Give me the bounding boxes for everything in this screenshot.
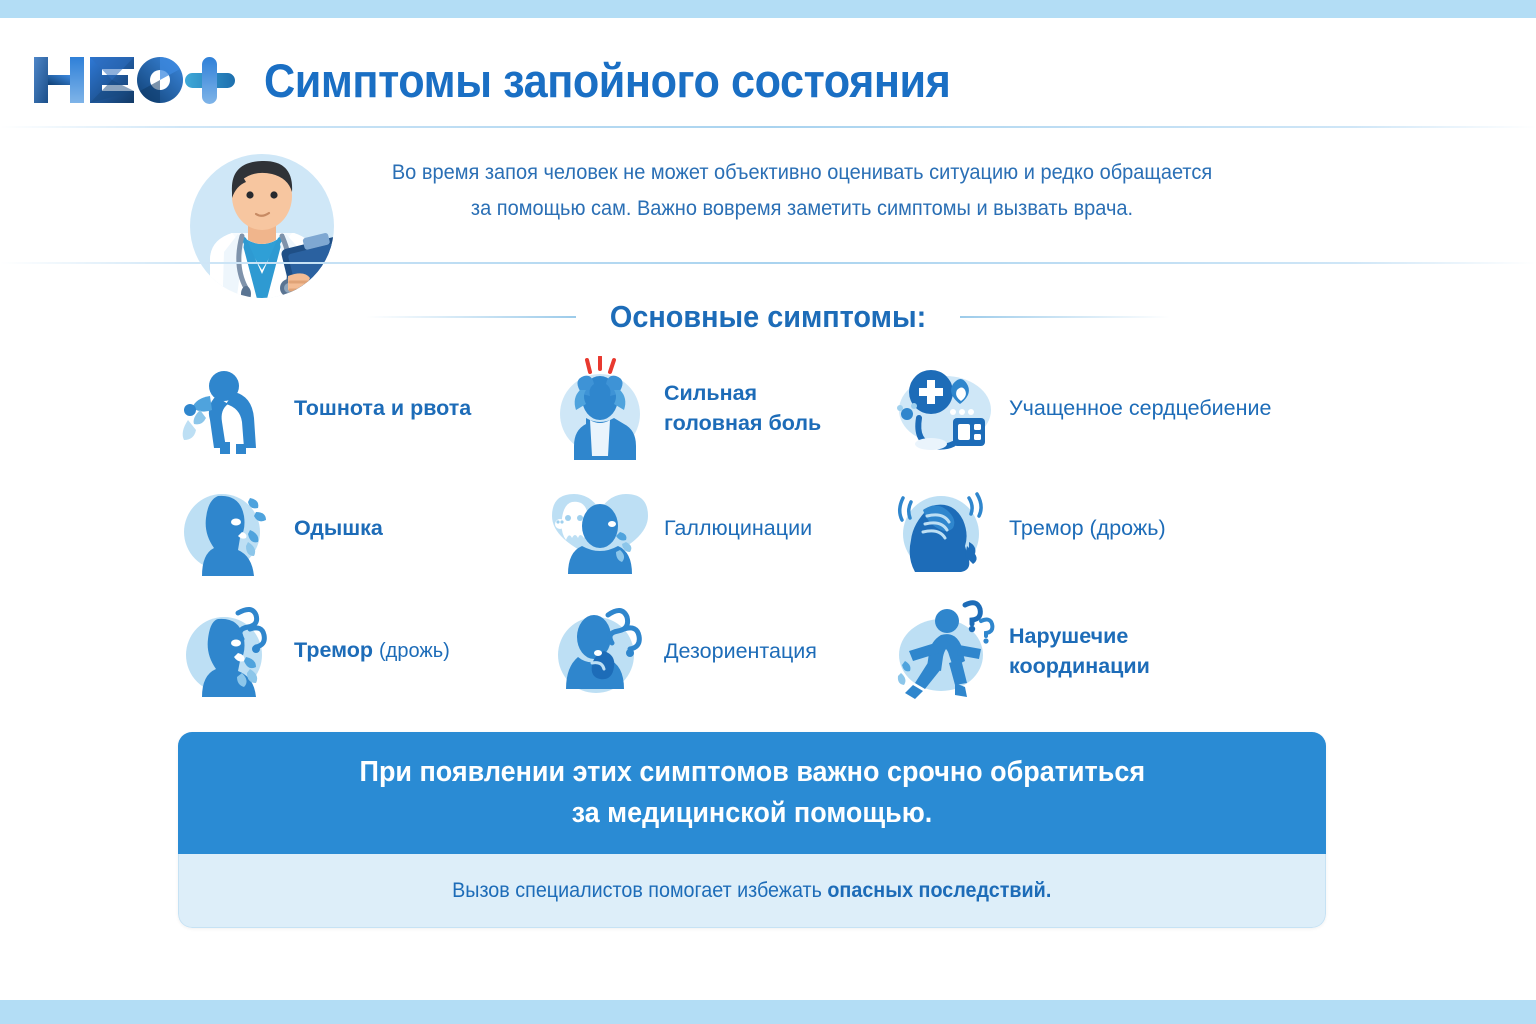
callout-main: При появлении этих симптомов важно срочн… — [178, 732, 1326, 854]
intro-line-1: Во время запоя человек не может объектив… — [354, 154, 1251, 190]
section-heading: Основные симптомы: — [0, 299, 1536, 335]
intro-divider — [0, 262, 1536, 264]
hallucination-icon — [546, 476, 654, 580]
symptom-label: Тремор (дрожь) — [1009, 514, 1166, 542]
callout-subtext: Вызов специалистов помогает избежать опа… — [178, 854, 1326, 928]
page-header: Симптомы запойного состояния — [0, 34, 1536, 126]
coordination-icon — [891, 599, 999, 703]
tremor-head-icon — [891, 476, 999, 580]
symptom-item-disorientation: Дезориентация — [546, 588, 891, 713]
callout-banner: При появлении этих симптомов важно срочн… — [178, 732, 1326, 928]
symptom-item-coordination: Нарушечие координации — [891, 588, 1321, 713]
intro-line-2: за помощью сам. Важно вовремя заметить с… — [354, 190, 1251, 226]
symptom-label-main: Тремор — [294, 638, 373, 662]
symptom-item-headache: Сильная головная боль — [546, 348, 891, 468]
symptom-label: Галлюцинации — [664, 514, 812, 542]
top-accent-band — [0, 0, 1536, 18]
symptom-label: Нарушечие координации — [1009, 621, 1150, 681]
symptom-item-heartbeat: Учащенное сердцебиение — [891, 348, 1321, 468]
page-title: Симптомы запойного состояния — [264, 53, 950, 108]
symptom-item-vomiting: Тошнота и рвота — [176, 348, 546, 468]
tremor-icon — [176, 599, 284, 703]
symptom-label-line1: Нарушечие — [1009, 624, 1128, 648]
neo-plus-logo — [30, 49, 240, 111]
vomiting-icon — [176, 356, 284, 460]
symptom-item-shortness-breath: Одышка — [176, 468, 546, 588]
callout-line-2: за медицинской помощью. — [572, 793, 933, 834]
intro-paragraph: Во время запоя человек не может объектив… — [354, 154, 1251, 226]
shortness-breath-icon — [176, 476, 284, 580]
symptoms-grid: Тошнота и рвота — [176, 348, 1336, 718]
callout-line-1: При появлении этих симптомов важно срочн… — [359, 752, 1145, 793]
callout-sub-emphasis: опасных последствий. — [828, 879, 1052, 902]
symptom-label: Дезориентация — [664, 637, 817, 665]
symptom-label-note: (дрожь) — [379, 640, 450, 662]
symptom-label: Одышка — [294, 514, 383, 542]
heading-rule-right — [960, 316, 1170, 318]
symptom-item-tremor: Тремор (дрожь) — [176, 588, 546, 713]
header-divider — [0, 126, 1536, 128]
section-heading-text: Основные симптомы: — [610, 299, 926, 335]
disorientation-icon — [546, 599, 654, 703]
symptom-label-line1: Сильная — [664, 381, 757, 405]
symptom-label-line2: головная боль — [664, 411, 821, 435]
symptom-label: Учащенное сердцебиение — [1009, 394, 1271, 422]
headache-icon — [546, 356, 654, 460]
heading-rule-left — [366, 316, 576, 318]
symptom-item-tremor-head: Тремор (дрожь) — [891, 468, 1321, 588]
intro-section: Во время запоя человек не может объектив… — [0, 136, 1536, 264]
bottom-accent-band — [0, 1000, 1536, 1024]
symptom-label: Сильная головная боль — [664, 378, 821, 438]
symptom-item-hallucination: Галлюцинации — [546, 468, 891, 588]
callout-sub-prefix: Вызов специалистов помогает избежать — [452, 879, 827, 902]
symptom-label-line2: координации — [1009, 654, 1150, 678]
heartbeat-icon — [891, 356, 999, 460]
symptom-label: Тремор (дрожь) — [294, 636, 450, 665]
symptom-label: Тошнота и рвота — [294, 394, 471, 422]
infographic-page: Симптомы запойного состояния — [0, 18, 1536, 1000]
doctor-illustration — [176, 148, 372, 318]
